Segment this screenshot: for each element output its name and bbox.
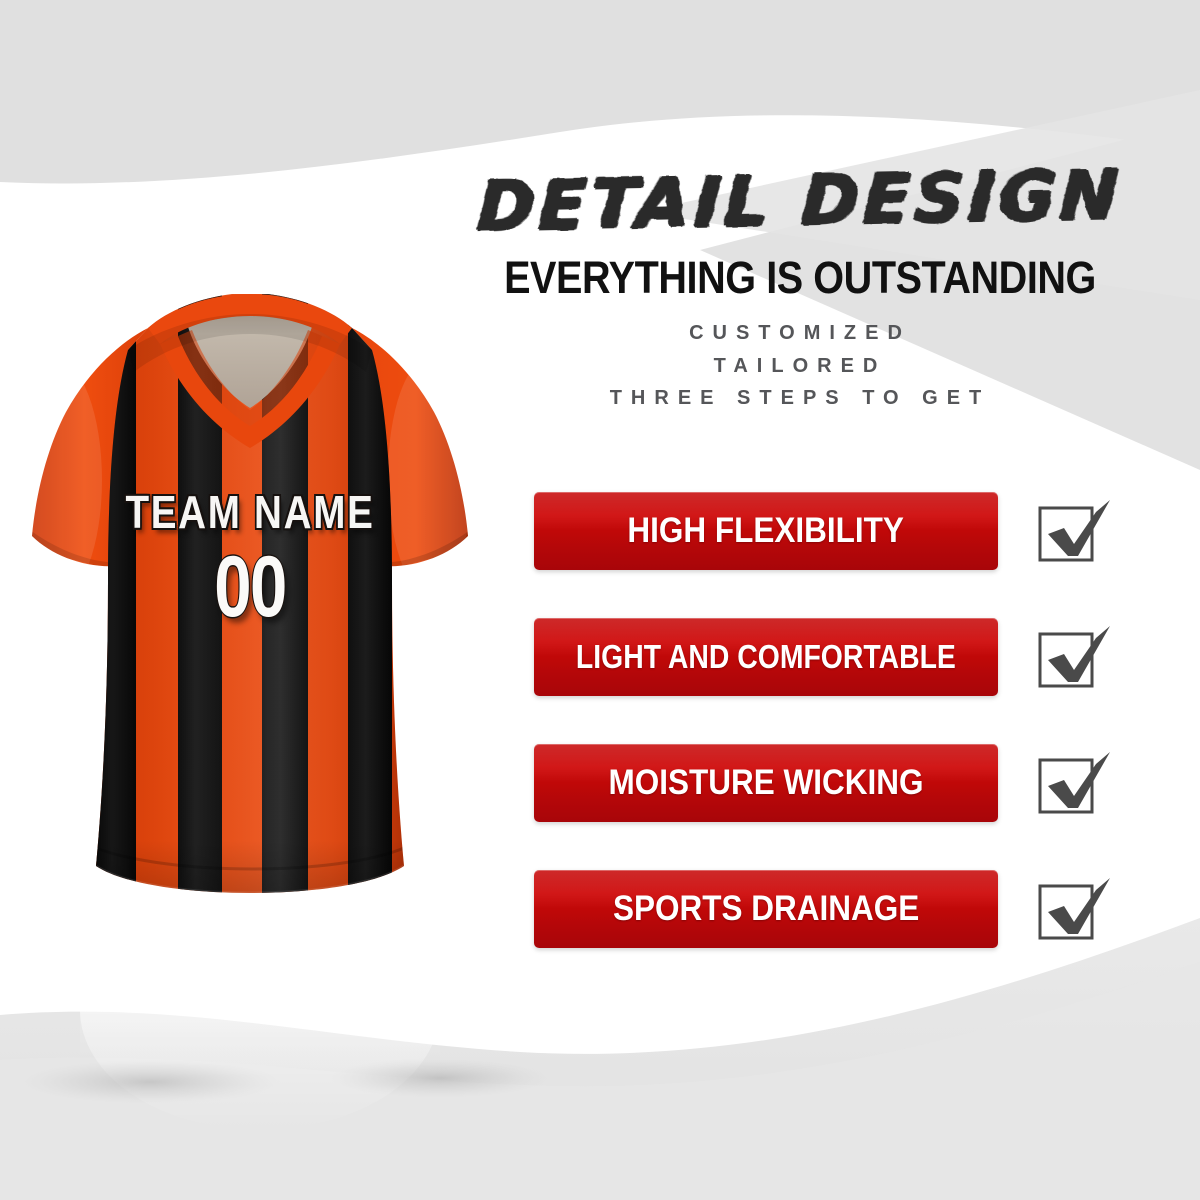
check-mark-box-icon bbox=[1034, 492, 1120, 570]
feature-row: LIGHT AND COMFORTABLE bbox=[534, 618, 1134, 696]
tagline-item: THREE STEPS TO GET bbox=[440, 382, 1160, 414]
page-title: DETAIL DESIGN bbox=[438, 161, 1162, 243]
feature-label: SPORTS DRAINAGE bbox=[613, 889, 919, 929]
feature-row: SPORTS DRAINAGE bbox=[534, 870, 1134, 948]
tagline-item: CUSTOMIZED bbox=[440, 317, 1160, 349]
feature-label: LIGHT AND COMFORTABLE bbox=[576, 638, 956, 676]
feature-banner-light-and-comfortable[interactable]: LIGHT AND COMFORTABLE bbox=[534, 618, 998, 696]
feature-label: HIGH FLEXIBILITY bbox=[628, 511, 905, 551]
headline-block: DETAIL DESIGN EVERYTHING IS OUTSTANDING … bbox=[440, 168, 1160, 414]
feature-banner-sports-drainage[interactable]: SPORTS DRAINAGE bbox=[534, 870, 998, 948]
tagline-item: TAILORED bbox=[440, 350, 1160, 382]
feature-label: MOISTURE WICKING bbox=[608, 763, 923, 803]
feature-list: HIGH FLEXIBILITY LIGHT AND COMFORTABLE bbox=[534, 492, 1134, 948]
page-subtitle: EVERYTHING IS OUTSTANDING bbox=[483, 254, 1117, 301]
jersey-product-image: TEAM NAME 00 bbox=[0, 280, 500, 960]
jersey-illustration bbox=[0, 280, 500, 960]
feature-banner-high-flexibility[interactable]: HIGH FLEXIBILITY bbox=[534, 492, 998, 570]
feature-row: MOISTURE WICKING bbox=[534, 744, 1134, 822]
check-mark-box-icon bbox=[1034, 870, 1120, 948]
check-mark-box-icon bbox=[1034, 618, 1120, 696]
feature-banner-moisture-wicking[interactable]: MOISTURE WICKING bbox=[534, 744, 998, 822]
tagline-list: CUSTOMIZED TAILORED THREE STEPS TO GET bbox=[440, 317, 1160, 414]
feature-row: HIGH FLEXIBILITY bbox=[534, 492, 1134, 570]
product-detail-banner: TEAM NAME 00 DETAIL DESIGN EVERYTHING IS… bbox=[0, 0, 1200, 1200]
check-mark-box-icon bbox=[1034, 744, 1120, 822]
